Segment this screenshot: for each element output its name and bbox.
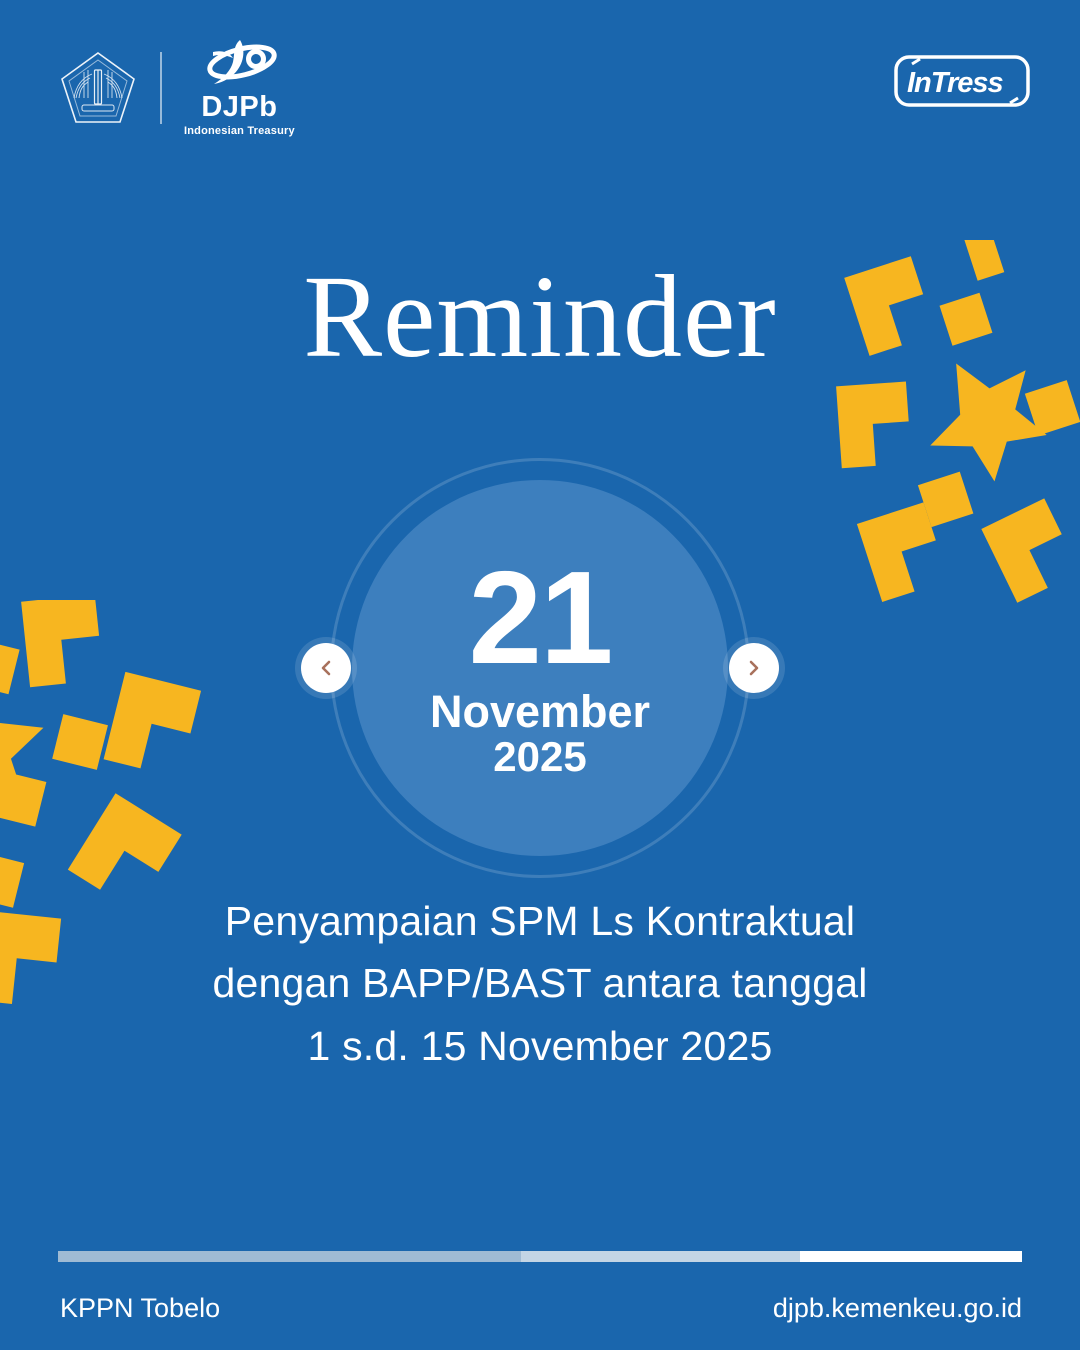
header: DJPb Indonesian Treasury InTress xyxy=(0,0,1080,160)
footer-office-name: KPPN Tobelo xyxy=(60,1292,220,1324)
djpb-logo: DJPb Indonesian Treasury xyxy=(184,38,295,137)
chevron-left-icon xyxy=(318,660,334,676)
reminder-message: Penyampaian SPM Ls Kontraktual dengan BA… xyxy=(120,890,960,1077)
prev-button-inner[interactable] xyxy=(301,643,351,693)
kemenkeu-pentagon-logo xyxy=(58,48,138,128)
footer-bar-segment-3 xyxy=(800,1251,1022,1262)
djpb-swoosh-icon xyxy=(200,38,278,92)
message-line-2: dengan BAPP/BAST antara tanggal xyxy=(120,952,960,1014)
date-year: 2025 xyxy=(493,735,586,779)
djpb-tagline: Indonesian Treasury xyxy=(184,126,295,137)
footer-website[interactable]: djpb.kemenkeu.go.id xyxy=(773,1292,1022,1324)
date-circle: 21 November 2025 xyxy=(352,480,728,856)
chevron-right-icon xyxy=(746,660,762,676)
svg-text:InTress: InTress xyxy=(907,67,1004,99)
intress-logo: InTress xyxy=(892,52,1032,110)
page-title: Reminder xyxy=(0,258,1080,376)
date-month: November xyxy=(430,688,650,735)
prev-date-button[interactable] xyxy=(295,637,357,699)
date-carousel: 21 November 2025 xyxy=(330,458,750,878)
message-line-1: Penyampaian SPM Ls Kontraktual xyxy=(120,890,960,952)
logo-divider xyxy=(160,52,162,124)
footer-bar-segment-1 xyxy=(58,1251,521,1262)
next-date-button[interactable] xyxy=(723,637,785,699)
message-line-3: 1 s.d. 15 November 2025 xyxy=(120,1015,960,1077)
logo-group: DJPb Indonesian Treasury xyxy=(58,38,295,137)
reminder-poster: DJPb Indonesian Treasury InTress Reminde… xyxy=(0,0,1080,1350)
footer-progress-bar xyxy=(58,1251,1022,1262)
next-button-inner[interactable] xyxy=(729,643,779,693)
date-day: 21 xyxy=(469,557,612,678)
djpb-wordmark: DJPb xyxy=(201,93,277,122)
footer-bar-segment-2 xyxy=(521,1251,801,1262)
